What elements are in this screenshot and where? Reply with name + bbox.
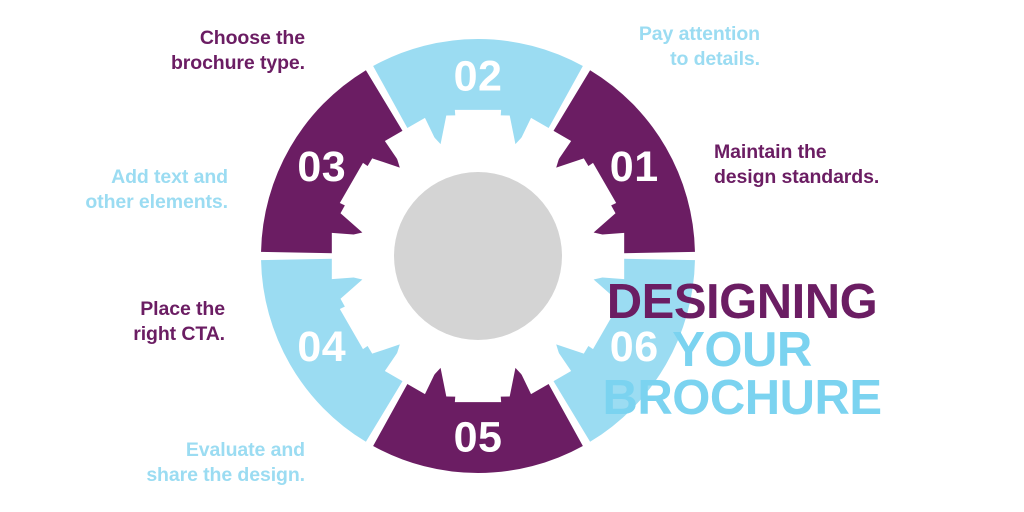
segment-number-01: 01 xyxy=(610,143,659,191)
callout-step-04: Add text and other elements. xyxy=(38,165,228,215)
segment-number-04: 04 xyxy=(297,323,346,371)
title-line-2: YOUR xyxy=(572,326,912,374)
callout-step-01: Maintain the design standards. xyxy=(714,140,924,190)
title-line-3: BROCHURE xyxy=(572,374,912,422)
infographic-canvas: 010203040506 Maintain the design standar… xyxy=(0,0,1024,512)
segment-number-02: 02 xyxy=(454,53,503,101)
process-gear-wheel: 010203040506 xyxy=(0,0,1024,512)
title-line-1: DESIGNING xyxy=(572,278,912,326)
callout-step-03: Choose the brochure type. xyxy=(130,26,305,76)
callout-step-02: Pay attention to details. xyxy=(560,22,760,72)
callout-step-05: Place the right CTA. xyxy=(70,297,225,347)
callout-step-06: Evaluate and share the design. xyxy=(110,438,305,488)
page-title: DESIGNING YOUR BROCHURE xyxy=(572,278,912,422)
segment-number-03: 03 xyxy=(297,143,346,191)
segment-number-05: 05 xyxy=(454,413,503,461)
gear-hub-circle xyxy=(394,172,562,340)
